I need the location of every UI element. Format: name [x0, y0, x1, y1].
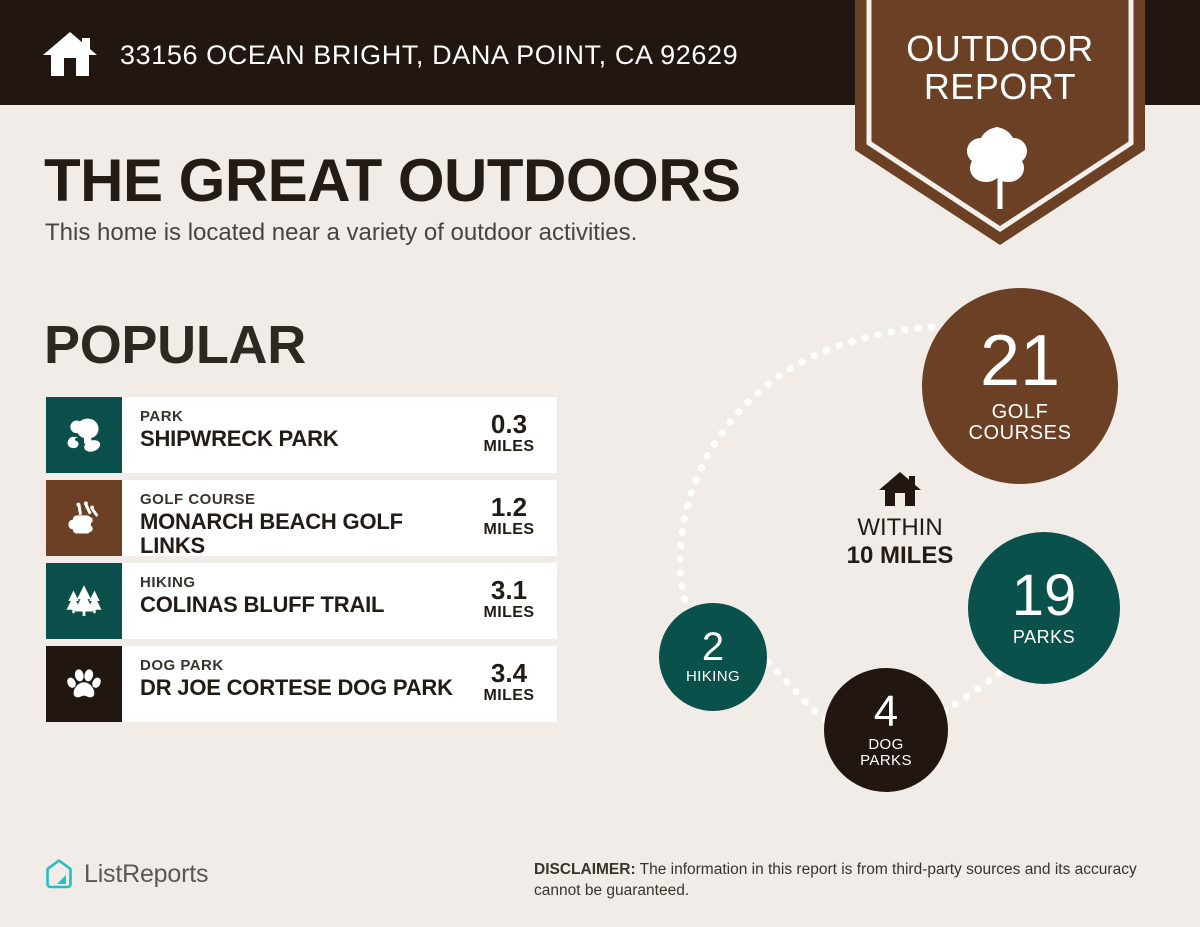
list-item-category: PARK	[140, 409, 467, 426]
stat-label-line1: DOG	[860, 737, 912, 753]
home-icon	[41, 30, 99, 78]
park-trees-icon	[46, 397, 122, 473]
brand-logo[interactable]: ListReports	[44, 858, 208, 890]
list-item-text: PARK SHIPWRECK PARK	[122, 397, 467, 473]
disclaimer: DISCLAIMER: The information in this repo…	[534, 859, 1164, 902]
list-item[interactable]: PARK SHIPWRECK PARK 0.3 MILES	[46, 397, 557, 473]
section-title-popular: POPULAR	[44, 314, 306, 376]
list-item-text: GOLF COURSE MONARCH BEACH GOLF LINKS	[122, 480, 467, 556]
list-item-name: SHIPWRECK PARK	[140, 427, 467, 452]
list-item[interactable]: DOG PARK DR JOE CORTESE DOG PARK 3.4 MIL…	[46, 646, 557, 722]
golf-bag-icon	[46, 480, 122, 556]
amenities-bubble-chart: 21 GOLF COURSES 19 PARKS 4 DOG PARKS 2 H…	[600, 270, 1180, 810]
stat-dog-parks[interactable]: 4 DOG PARKS	[824, 668, 948, 792]
distance-unit: MILES	[467, 438, 551, 456]
list-item-text: HIKING COLINAS BLUFF TRAIL	[122, 563, 467, 639]
stat-label-line2: COURSES	[968, 423, 1071, 445]
list-item-name: DR JOE CORTESE DOG PARK	[140, 676, 467, 701]
pine-trees-icon	[46, 563, 122, 639]
popular-places-list: PARK SHIPWRECK PARK 0.3 MILES GOLF	[46, 397, 557, 729]
list-item-category: DOG PARK	[140, 658, 467, 675]
stat-label: PARKS	[1013, 628, 1075, 647]
within-label-line1: WITHIN	[800, 514, 1000, 542]
distance-unit: MILES	[467, 521, 551, 539]
list-item[interactable]: HIKING COLINAS BLUFF TRAIL 3.1 MILES	[46, 563, 557, 639]
outdoor-report-badge: OUTDOOR REPORT	[855, 0, 1145, 245]
listreports-house-icon	[44, 858, 74, 890]
stat-label-line1: GOLF	[968, 402, 1071, 424]
stat-label: GOLF COURSES	[968, 402, 1071, 445]
within-label-line2: 10 MILES	[800, 542, 1000, 570]
distance-unit: MILES	[467, 604, 551, 622]
stat-value: 4	[874, 691, 898, 733]
list-item-name: COLINAS BLUFF TRAIL	[140, 593, 467, 618]
distance-unit: MILES	[467, 687, 551, 705]
page-subtitle: This home is located near a variety of o…	[45, 219, 637, 247]
list-item[interactable]: GOLF COURSE MONARCH BEACH GOLF LINKS 1.2…	[46, 480, 557, 556]
list-item-distance: 0.3 MILES	[467, 397, 557, 473]
stat-hiking[interactable]: 2 HIKING	[659, 603, 767, 711]
list-item-name: MONARCH BEACH GOLF LINKS	[140, 510, 467, 557]
property-address: 33156 OCEAN BRIGHT, DANA POINT, CA 92629	[120, 40, 738, 71]
list-item-distance: 1.2 MILES	[467, 480, 557, 556]
brand-name: ListReports	[84, 860, 208, 889]
stat-value: 19	[1012, 568, 1077, 623]
distance-value: 1.2	[467, 494, 551, 521]
distance-value: 3.1	[467, 577, 551, 604]
paw-print-icon	[46, 646, 122, 722]
stat-value: 2	[702, 628, 724, 666]
disclaimer-label: DISCLAIMER:	[534, 861, 636, 878]
list-item-category: HIKING	[140, 575, 467, 592]
list-item-text: DOG PARK DR JOE CORTESE DOG PARK	[122, 646, 467, 722]
distance-value: 3.4	[467, 660, 551, 687]
stat-label-line2: PARKS	[860, 753, 912, 769]
stat-golf-courses[interactable]: 21 GOLF COURSES	[922, 288, 1118, 484]
within-radius-block: WITHIN 10 MILES	[800, 470, 1000, 569]
list-item-category: GOLF COURSE	[140, 492, 467, 509]
distance-value: 0.3	[467, 411, 551, 438]
home-icon	[877, 470, 923, 508]
stat-value: 21	[980, 327, 1060, 395]
list-item-distance: 3.4 MILES	[467, 646, 557, 722]
stat-label: DOG PARKS	[860, 737, 912, 769]
stat-label: HIKING	[686, 669, 740, 685]
page-title: THE GREAT OUTDOORS	[44, 146, 741, 215]
list-item-distance: 3.1 MILES	[467, 563, 557, 639]
